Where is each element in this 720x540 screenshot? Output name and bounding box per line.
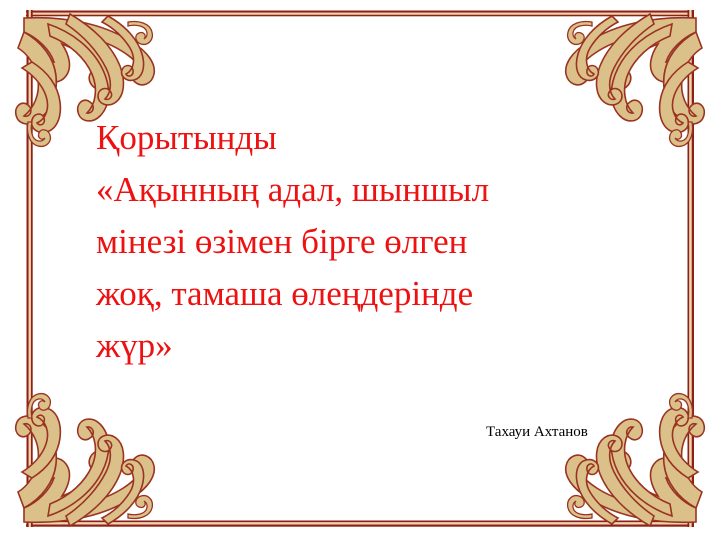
attribution-text: Тахауи Ахтанов: [486, 422, 588, 442]
title-text-block: Қорытынды «Ақынның адал, шыншыл мінезі ө…: [96, 112, 656, 372]
quote-line-3: жоқ, тамаша өлеңдерінде: [96, 268, 656, 320]
quote-line-2: мінезі өзімен бірге өлген: [96, 216, 656, 268]
flourish-bottom-right: [566, 394, 705, 526]
quote-line-4: жүр»: [96, 320, 656, 372]
flourish-bottom-left: [16, 394, 155, 526]
heading-line: Қорытынды: [96, 112, 656, 164]
slide-canvas: Қорытынды «Ақынның адал, шыншыл мінезі ө…: [0, 0, 720, 540]
quote-line-1: «Ақынның адал, шыншыл: [96, 164, 656, 216]
